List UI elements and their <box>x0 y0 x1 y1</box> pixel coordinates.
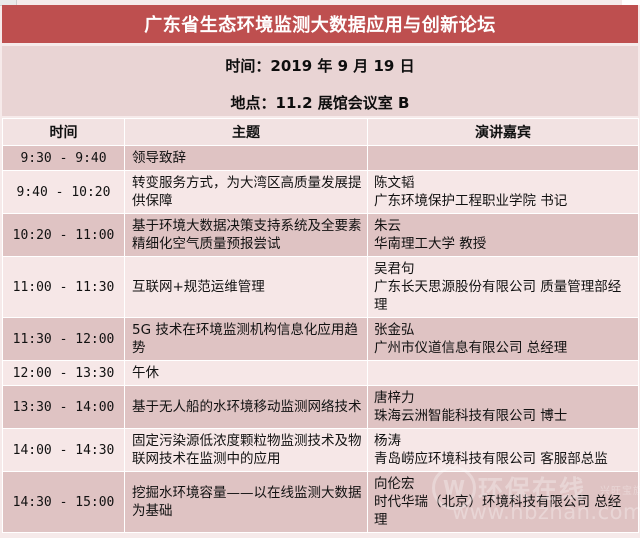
agenda-table-head: 时间 主题 演讲嘉宾 <box>3 119 639 146</box>
subtitle-block: 时间：2019 年 9 月 19 日 地点：11.2 展馆会议室 B <box>2 46 638 116</box>
cell-time: 11:30 - 12:00 <box>3 318 125 361</box>
event-date: 时间：2019 年 9 月 19 日 <box>2 55 638 76</box>
table-row: 12:00 - 13:30午休 <box>3 361 639 386</box>
cell-time: 9:30 - 9:40 <box>3 146 125 171</box>
cell-topic: 领导致辞 <box>125 146 368 171</box>
column-header-guest: 演讲嘉宾 <box>368 119 639 146</box>
cell-topic: 固定污染源低浓度颗粒物监测技术及物联网技术在监测中的应用 <box>125 429 368 472</box>
cell-topic: 挖掘水环境容量——以在线监测大数据为基础 <box>125 472 368 533</box>
table-row: 11:00 - 11:30互联网+规范运维管理吴君句广东长天思源股份有限公司 质… <box>3 257 639 318</box>
cell-topic: 转变服务方式，为大湾区高质量发展提供保障 <box>125 171 368 214</box>
cell-topic: 互联网+规范运维管理 <box>125 257 368 318</box>
table-header-row: 时间 主题 演讲嘉宾 <box>3 119 639 146</box>
cell-guest: 张金弘广州市仪道信息有限公司 总经理 <box>368 318 639 361</box>
cell-time: 9:40 - 10:20 <box>3 171 125 214</box>
poster-title-bar: 广东省生态环境监测大数据应用与创新论坛 <box>2 5 638 43</box>
event-venue: 地点：11.2 展馆会议室 B <box>2 92 638 113</box>
cell-time: 11:00 - 11:30 <box>3 257 125 318</box>
table-row: 14:00 - 14:30固定污染源低浓度颗粒物监测技术及物联网技术在监测中的应… <box>3 429 639 472</box>
cell-guest: 杨涛青岛崂应环境科技有限公司 客服部总监 <box>368 429 639 472</box>
cell-guest <box>368 361 639 386</box>
column-header-topic: 主题 <box>125 119 368 146</box>
agenda-table: 时间 主题 演讲嘉宾 9:30 - 9:40领导致辞9:40 - 10:20转变… <box>2 118 639 533</box>
cell-topic: 午休 <box>125 361 368 386</box>
agenda-table-body: 9:30 - 9:40领导致辞9:40 - 10:20转变服务方式，为大湾区高质… <box>3 146 639 533</box>
column-header-time: 时间 <box>3 119 125 146</box>
cell-topic: 5G 技术在环境监测机构信息化应用趋势 <box>125 318 368 361</box>
cell-guest <box>368 146 639 171</box>
table-row: 14:30 - 15:00挖掘水环境容量——以在线监测大数据为基础向伦宏时代华瑞… <box>3 472 639 533</box>
cell-guest: 吴君句广东长天思源股份有限公司 质量管理部经理 <box>368 257 639 318</box>
cell-time: 12:00 - 13:30 <box>3 361 125 386</box>
table-row: 11:30 - 12:005G 技术在环境监测机构信息化应用趋势张金弘广州市仪道… <box>3 318 639 361</box>
cell-time: 10:20 - 11:00 <box>3 214 125 257</box>
page-title: 广东省生态环境监测大数据应用与创新论坛 <box>144 11 496 37</box>
table-row: 9:40 - 10:20转变服务方式，为大湾区高质量发展提供保障陈文韬广东环境保… <box>3 171 639 214</box>
table-row: 10:20 - 11:00基于环境大数据决策支持系统及全要素精细化空气质量预报尝… <box>3 214 639 257</box>
cell-topic: 基于环境大数据决策支持系统及全要素精细化空气质量预报尝试 <box>125 214 368 257</box>
cell-time: 14:00 - 14:30 <box>3 429 125 472</box>
cell-guest: 向伦宏时代华瑞（北京）环境科技有限公司 总经理 <box>368 472 639 533</box>
cell-guest: 朱云华南理工大学 教授 <box>368 214 639 257</box>
cell-guest: 唐梓力珠海云洲智能科技有限公司 博士 <box>368 386 639 429</box>
table-row: 9:30 - 9:40领导致辞 <box>3 146 639 171</box>
cell-time: 13:30 - 14:00 <box>3 386 125 429</box>
cell-time: 14:30 - 15:00 <box>3 472 125 533</box>
cell-topic: 基于无人船的水环境移动监测网络技术 <box>125 386 368 429</box>
forum-agenda-poster: 广东省生态环境监测大数据应用与创新论坛 时间：2019 年 9 月 19 日 地… <box>0 0 640 538</box>
cell-guest: 陈文韬广东环境保护工程职业学院 书记 <box>368 171 639 214</box>
table-row: 13:30 - 14:00基于无人船的水环境移动监测网络技术唐梓力珠海云洲智能科… <box>3 386 639 429</box>
